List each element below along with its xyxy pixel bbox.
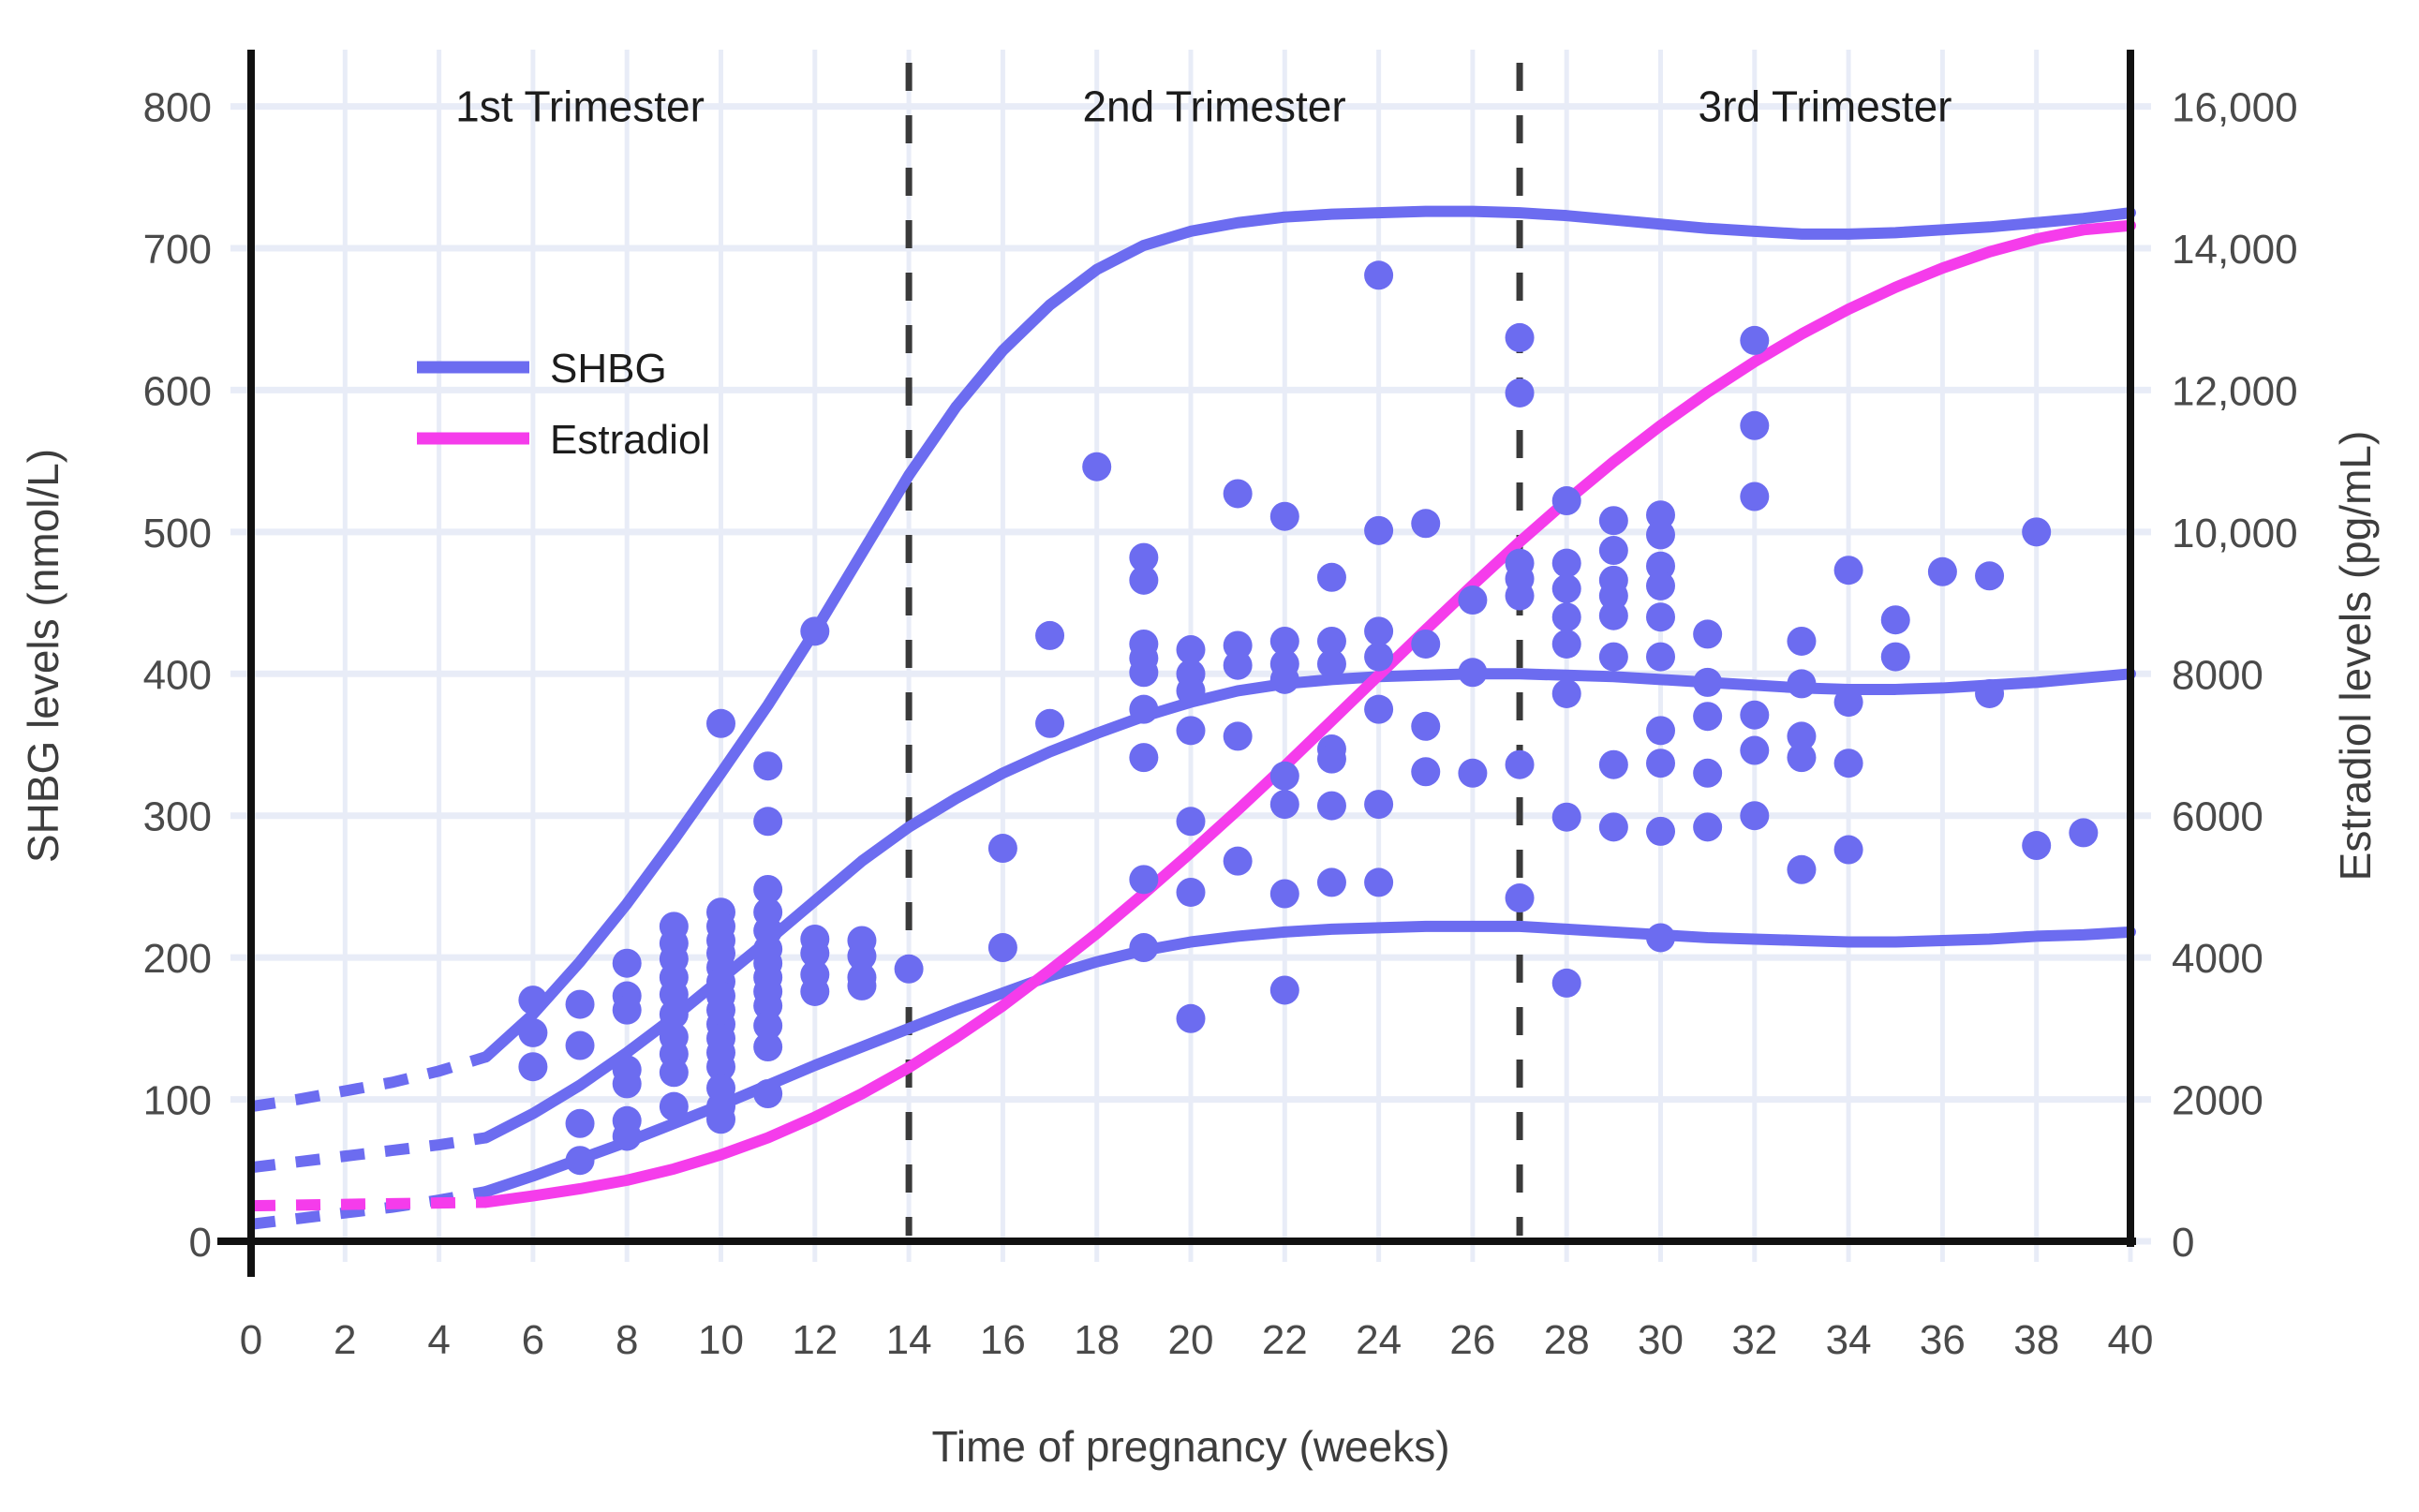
scatter-point	[1506, 378, 1535, 408]
x-tick-label: 40	[2108, 1317, 2154, 1363]
scatter-point	[1787, 743, 1816, 772]
scatter-point	[988, 933, 1017, 962]
y-tick-label-left: 500	[143, 511, 212, 556]
x-tick-label: 38	[2013, 1317, 2059, 1363]
scatter-point	[1834, 836, 1863, 865]
scatter-point	[1740, 701, 1769, 730]
scatter-point	[1646, 817, 1675, 846]
scatter-point	[1082, 452, 1111, 482]
y-tick-label-right: 0	[2172, 1220, 2194, 1266]
scatter-point	[1552, 574, 1581, 603]
x-axis-title: Time of pregnancy (weeks)	[931, 1422, 1449, 1471]
scatter-point	[1646, 749, 1675, 778]
scatter-point	[895, 955, 924, 984]
scatter-point	[1035, 709, 1064, 738]
scatter-point	[613, 1069, 642, 1098]
scatter-point	[1834, 749, 1863, 778]
scatter-point	[1177, 878, 1206, 907]
x-tick-label: 34	[1826, 1317, 1872, 1363]
scatter-point	[1035, 621, 1064, 650]
y-tick-label-left: 400	[143, 652, 212, 698]
scatter-point	[1693, 702, 1722, 731]
scatter-point	[988, 834, 1017, 863]
scatter-point	[1270, 880, 1299, 909]
scatter-point	[1740, 801, 1769, 830]
scatter-point	[1129, 865, 1158, 894]
scatter-point	[1506, 883, 1535, 912]
y-tick-label-left: 700	[143, 227, 212, 273]
x-tick-label: 2	[334, 1317, 356, 1363]
scatter-point	[1177, 676, 1206, 705]
scatter-point	[1787, 669, 1816, 698]
scatter-point	[706, 709, 735, 738]
scatter-point	[1364, 643, 1393, 672]
scatter-point	[2022, 831, 2051, 860]
scatter-point	[1411, 509, 1440, 538]
scatter-point	[1646, 602, 1675, 631]
y-axis-left-tick-labels: 0100200300400500600700800	[143, 85, 212, 1266]
y-tick-label-right: 14,000	[2172, 227, 2298, 273]
x-tick-label: 30	[1638, 1317, 1684, 1363]
scatter-point	[660, 1058, 689, 1087]
scatter-point	[1552, 803, 1581, 832]
scatter-point	[1599, 812, 1628, 841]
scatter-point	[847, 971, 876, 1001]
y-tick-label-right: 8000	[2172, 652, 2263, 698]
scatter-point	[1646, 571, 1675, 600]
scatter-point	[1317, 745, 1346, 774]
x-tick-label: 32	[1731, 1317, 1777, 1363]
scatter-point	[1458, 586, 1487, 615]
scatter-point	[1129, 566, 1158, 595]
scatter-point	[566, 1146, 595, 1175]
scatter-point	[1270, 975, 1299, 1004]
scatter-point	[1881, 643, 1910, 672]
x-tick-label: 16	[980, 1317, 1026, 1363]
scatter-point	[1552, 549, 1581, 578]
scatter-point	[753, 751, 782, 780]
scatter-point	[613, 949, 642, 978]
x-tick-label: 12	[792, 1317, 838, 1363]
y-tick-label-right: 6000	[2172, 794, 2263, 840]
scatter-point	[1411, 630, 1440, 659]
scatter-point	[1646, 643, 1675, 672]
scatter-point	[1646, 923, 1675, 952]
scatter-point	[1224, 721, 1253, 750]
scatter-point	[1693, 812, 1722, 841]
x-tick-label: 24	[1356, 1317, 1402, 1363]
scatter-point	[1646, 520, 1675, 549]
scatter-point	[1693, 668, 1722, 697]
scatter-point	[753, 1079, 782, 1108]
scatter-point	[800, 977, 829, 1006]
scatter-point	[1740, 736, 1769, 765]
scatter-point	[1458, 759, 1487, 788]
x-tick-label: 36	[1920, 1317, 1966, 1363]
scatter-point	[1599, 750, 1628, 779]
scatter-point	[1740, 411, 1769, 440]
scatter-point	[518, 986, 547, 1015]
scatter-point	[1693, 619, 1722, 648]
scatter-point	[566, 1109, 595, 1138]
x-tick-label: 6	[522, 1317, 544, 1363]
scatter-point	[1552, 679, 1581, 708]
trimester-annotations: 1st Trimester2nd Trimester3rd Trimester	[455, 82, 1952, 131]
y-tick-label-right: 12,000	[2172, 368, 2298, 414]
scatter-point	[518, 1018, 547, 1047]
scatter-point	[1787, 627, 1816, 656]
x-axis-tick-labels: 0246810121416182022242628303234363840	[240, 1317, 2154, 1363]
scatter-point	[1364, 695, 1393, 724]
scatter-point	[1458, 658, 1487, 687]
scatter-point	[1364, 516, 1393, 545]
x-tick-label: 18	[1074, 1317, 1120, 1363]
scatter-point	[1552, 630, 1581, 659]
y-tick-label-left: 600	[143, 368, 212, 414]
legend-label-shbg: SHBG	[550, 346, 667, 392]
y-axis-left-title: SHBG levels (nmol/L)	[19, 449, 67, 863]
scatter-point	[800, 616, 829, 645]
scatter-point	[1317, 867, 1346, 897]
scatter-point	[1364, 616, 1393, 645]
scatter-point	[1129, 658, 1158, 687]
scatter-point	[1599, 643, 1628, 672]
scatter-point	[1317, 649, 1346, 678]
scatter-point	[1270, 762, 1299, 791]
scatter-point	[1129, 743, 1158, 772]
scatter-point	[1364, 260, 1393, 289]
scatter-point	[1599, 536, 1628, 565]
scatter-point	[1270, 502, 1299, 531]
x-tick-label: 10	[698, 1317, 744, 1363]
scatter-point	[1693, 759, 1722, 788]
scatter-point	[518, 1052, 547, 1081]
scatter-point	[1740, 326, 1769, 355]
scatter-point	[660, 1092, 689, 1121]
scatter-point	[1411, 712, 1440, 741]
scatter-point	[1646, 716, 1675, 745]
scatter-point	[1224, 651, 1253, 680]
scatter-point	[1834, 688, 1863, 717]
scatter-point	[1928, 557, 1957, 586]
scatter-point	[1506, 323, 1535, 352]
y-tick-label-right: 4000	[2172, 936, 2263, 982]
scatter-point	[1364, 790, 1393, 819]
scatter-point	[1317, 563, 1346, 592]
scatter-point	[1270, 790, 1299, 819]
x-tick-label: 26	[1449, 1317, 1495, 1363]
trimester-label-3: 3rd Trimester	[1699, 82, 1952, 131]
scatter-point	[1599, 506, 1628, 535]
scatter-point	[1834, 556, 1863, 585]
scatter-point	[1317, 792, 1346, 821]
scatter-point	[1224, 847, 1253, 876]
scatter-point	[1552, 969, 1581, 998]
x-tick-label: 20	[1168, 1317, 1214, 1363]
scatter-point	[566, 1031, 595, 1060]
scatter-point	[1552, 602, 1581, 631]
scatter-point	[2069, 818, 2098, 847]
scatter-point	[1506, 750, 1535, 779]
scatter-point	[566, 990, 595, 1019]
y-axis-right-title: Estradiol levels (pg/mL)	[2331, 431, 2380, 882]
y-tick-label-left: 0	[189, 1220, 212, 1266]
scatter-point	[1224, 479, 1253, 508]
y-tick-label-left: 200	[143, 936, 212, 982]
chart-container: 0246810121416182022242628303234363840 01…	[0, 0, 2419, 1512]
scatter-point	[1364, 867, 1393, 897]
scatter-point	[1975, 561, 2004, 590]
x-tick-label: 8	[616, 1317, 638, 1363]
scatter-point	[2022, 517, 2051, 546]
x-tick-label: 4	[427, 1317, 450, 1363]
pregnancy-shbg-estradiol-chart: 0246810121416182022242628303234363840 01…	[0, 0, 2419, 1512]
scatter-point	[706, 1104, 735, 1134]
legend-label-estradiol: Estradiol	[550, 417, 710, 463]
y-tick-label-left: 100	[143, 1078, 212, 1124]
y-tick-label-left: 800	[143, 85, 212, 131]
x-tick-label: 14	[886, 1317, 932, 1363]
trimester-label-1: 1st Trimester	[455, 82, 705, 131]
scatter-point	[1506, 582, 1535, 611]
x-tick-label: 28	[1544, 1317, 1590, 1363]
scatter-point	[753, 1032, 782, 1061]
scatter-point	[1599, 601, 1628, 630]
scatter-point	[1177, 807, 1206, 836]
scatter-point	[1177, 1004, 1206, 1033]
scatter-point	[1552, 486, 1581, 515]
trimester-label-2: 2nd Trimester	[1082, 82, 1345, 131]
y-tick-label-right: 16,000	[2172, 85, 2298, 131]
scatter-point	[753, 807, 782, 836]
x-tick-label: 22	[1262, 1317, 1308, 1363]
scatter-point	[1975, 679, 2004, 708]
scatter-point	[1270, 665, 1299, 694]
scatter-point	[1740, 482, 1769, 511]
y-tick-label-right: 10,000	[2172, 511, 2298, 556]
scatter-point	[613, 1121, 642, 1150]
scatter-point	[1787, 855, 1816, 884]
y-tick-label-left: 300	[143, 794, 212, 840]
scatter-point	[1129, 695, 1158, 724]
y-tick-label-right: 2000	[2172, 1078, 2263, 1124]
scatter-point	[1177, 716, 1206, 745]
scatter-point	[1411, 757, 1440, 786]
scatter-point	[1129, 933, 1158, 962]
scatter-point	[613, 996, 642, 1025]
x-tick-label: 0	[240, 1317, 262, 1363]
scatter-point	[1881, 605, 1910, 634]
